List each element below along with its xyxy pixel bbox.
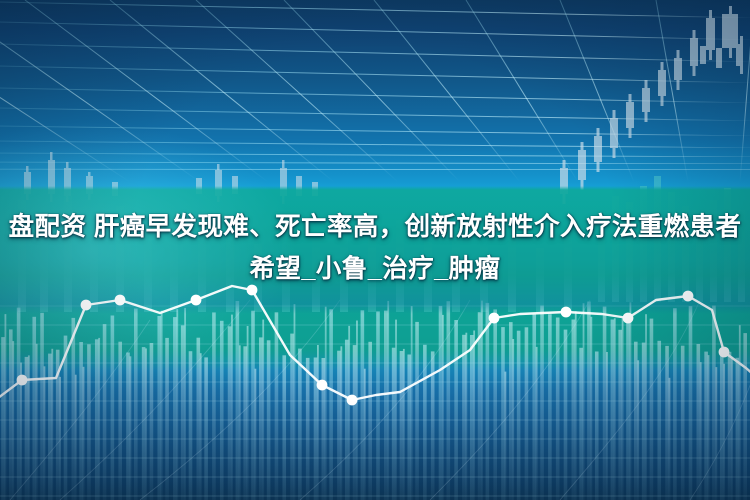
headline-line-2: 希望_小鲁_治疗_肿瘤 [4,248,746,290]
headline-block: 盘配资 肝癌早发现难、死亡率高，创新放射性介入疗法重燃患者 希望_小鲁_治疗_肿… [0,206,750,290]
banner-image: 盘配资 肝癌早发现难、死亡率高，创新放射性介入疗法重燃患者 希望_小鲁_治疗_肿… [0,0,750,500]
headline-line-1: 盘配资 肝癌早发现难、死亡率高，创新放射性介入疗法重燃患者 [4,206,746,248]
